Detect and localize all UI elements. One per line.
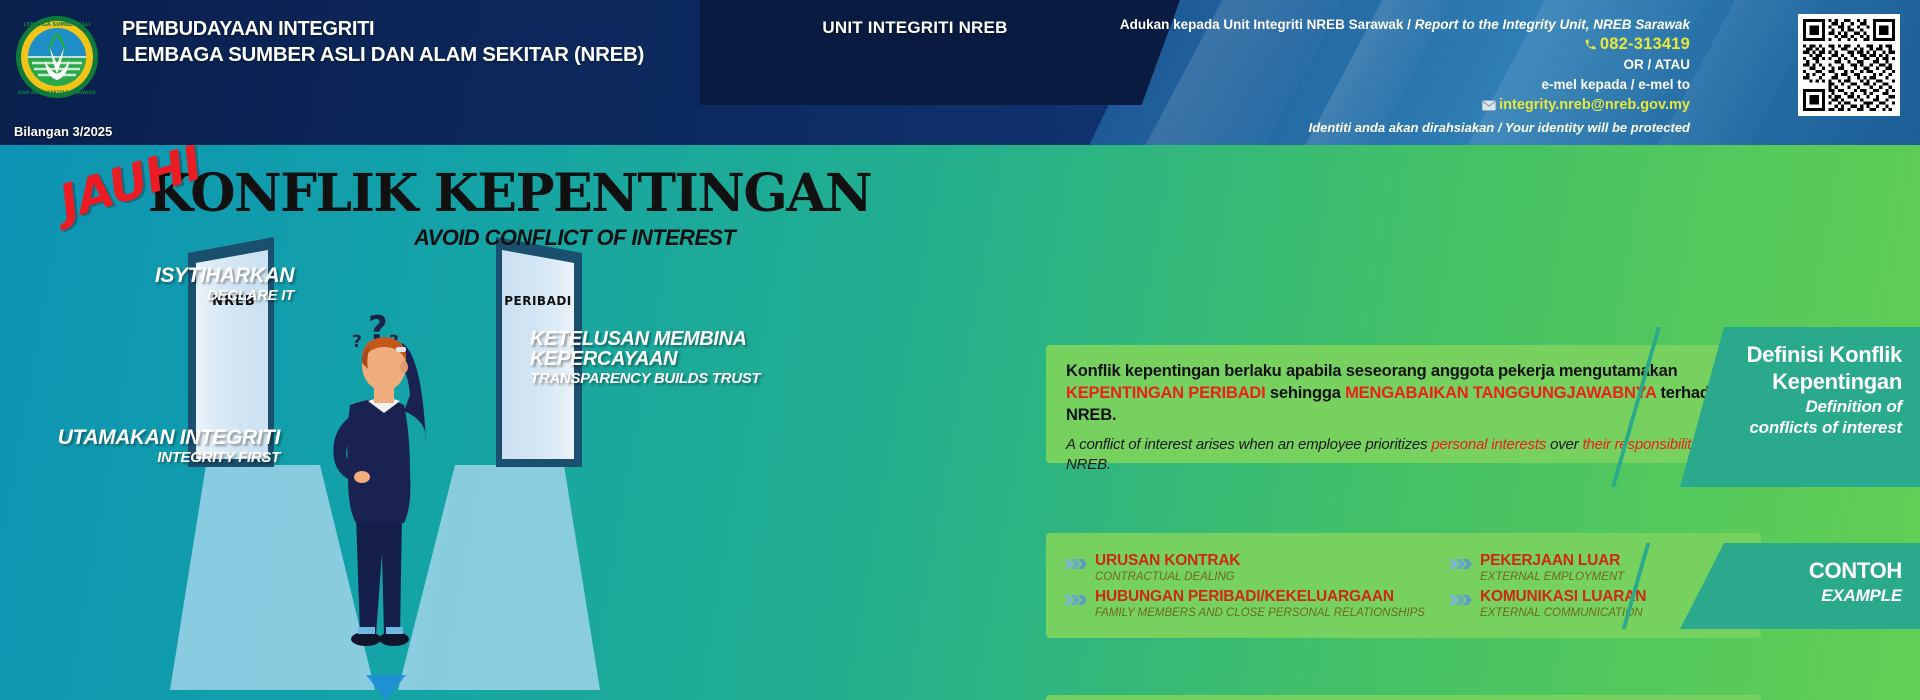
email-address: integrity.nreb@nreb.gov.my bbox=[1499, 97, 1690, 113]
example-ms: HUBUNGAN PERIBADI/KEKELUARGAAN bbox=[1095, 588, 1425, 605]
def-ms-red-2: MENGABAIKAN TANGGUNGJAWABNYA bbox=[1345, 384, 1656, 402]
example-en: FAMILY MEMBERS AND CLOSE PERSONAL RELATI… bbox=[1095, 606, 1425, 620]
tab-definition-en: Definition of conflicts of interest bbox=[1736, 396, 1902, 438]
def-ms-2: sehingga bbox=[1266, 384, 1346, 402]
label-integrity-ms: UTAMAKAN INTEGRITI bbox=[10, 427, 280, 448]
hero-title: KONFLIK KEPENTINGAN bbox=[148, 163, 871, 224]
svg-text:LEMBAGA SUMBER ASLI: LEMBAGA SUMBER ASLI bbox=[24, 22, 91, 28]
def-ms-red-1: KEPENTINGAN PERIBADI bbox=[1066, 384, 1266, 402]
label-declare-en: DECLARE IT bbox=[84, 288, 294, 303]
example-en: EXTERNAL EMPLOYMENT bbox=[1480, 570, 1624, 584]
example-ms: URUSAN KONTRAK bbox=[1095, 552, 1240, 569]
envelope-icon bbox=[1482, 98, 1496, 116]
example-ms: KOMUNIKASI LUARAN bbox=[1480, 588, 1646, 605]
header-org-line2: LEMBAGA SUMBER ASLI DAN ALAM SEKITAR (NR… bbox=[122, 42, 644, 68]
nreb-logo: LEMBAGA SUMBER ASLI DAN ALAM SEKITAR SAR… bbox=[14, 14, 100, 100]
label-transparency-en: TRANSPARENCY BUILDS TRUST bbox=[530, 371, 800, 386]
def-en-red-1: personal interests bbox=[1431, 436, 1546, 453]
infographic-poster: LEMBAGA SUMBER ASLI DAN ALAM SEKITAR SAR… bbox=[0, 0, 1920, 700]
tab-example-en: EXAMPLE bbox=[1736, 585, 1902, 606]
def-ms-1: Konflik kepentingan berlaku apabila sese… bbox=[1066, 362, 1677, 380]
label-transparency: KETELUSAN MEMBINA KEPERCAYAAN TRANSPAREN… bbox=[530, 329, 800, 386]
contact-block: Adukan kepada Unit Integriti NREB Sarawa… bbox=[1070, 16, 1690, 137]
two-doors-illustration: NREB PERIBADI bbox=[170, 235, 600, 700]
chevron-triple-icon bbox=[1064, 592, 1088, 610]
example-en: EXTERNAL COMMUNICATION bbox=[1480, 606, 1646, 620]
poster-body: JAUHI KONFLIK KEPENTINGAN AVOID CONFLICT… bbox=[0, 145, 1920, 700]
header-banner: LEMBAGA SUMBER ASLI DAN ALAM SEKITAR SAR… bbox=[0, 0, 1920, 145]
header-org-title: PEMBUDAYAAN INTEGRITI LEMBAGA SUMBER ASL… bbox=[122, 16, 644, 68]
qr-code[interactable] bbox=[1798, 14, 1900, 116]
phone-number: 082-313419 bbox=[1600, 35, 1690, 53]
report-en: Report to the Integrity Unit, NREB Saraw… bbox=[1415, 17, 1690, 32]
chevron-triple-icon bbox=[1449, 592, 1473, 610]
label-declare: ISYTIHARKAN DECLARE IT bbox=[84, 265, 294, 303]
chevron-triple-icon bbox=[1064, 556, 1088, 574]
label-transparency-ms: KETELUSAN MEMBINA KEPERCAYAAN bbox=[530, 329, 800, 369]
example-ms: PEKERJAAN LUAR bbox=[1480, 552, 1624, 569]
hero-subtitle: AVOID CONFLICT OF INTEREST bbox=[414, 225, 735, 251]
label-integrity-first: UTAMAKAN INTEGRITI INTEGRITY FIRST bbox=[10, 427, 280, 465]
svg-text:?: ? bbox=[352, 332, 362, 352]
header-org-line1: PEMBUDAYAAN INTEGRITI bbox=[122, 16, 644, 42]
chevron-triple-icon bbox=[1449, 556, 1473, 574]
report-separator: / bbox=[1407, 17, 1411, 32]
label-declare-ms: ISYTIHARKAN bbox=[84, 265, 294, 286]
example-item: URUSAN KONTRAK CONTRACTUAL DEALING bbox=[1064, 552, 1449, 584]
example-item: HUBUNGAN PERIBADI/KEKELUARGAAN FAMILY ME… bbox=[1064, 588, 1449, 620]
email-label: e-mel kepada / e-mel to bbox=[1070, 76, 1690, 94]
tab-definition-ms: Definisi Konflik Kepentingan bbox=[1736, 341, 1902, 395]
contact-phone[interactable]: 082-313419 bbox=[1070, 35, 1690, 55]
label-integrity-en: INTEGRITY FIRST bbox=[10, 450, 280, 465]
def-en-2: over bbox=[1546, 436, 1582, 453]
issue-number: Bilangan 3/2025 bbox=[14, 124, 112, 139]
example-en: CONTRACTUAL DEALING bbox=[1095, 570, 1240, 584]
report-line: Adukan kepada Unit Integriti NREB Sarawa… bbox=[1070, 16, 1690, 34]
header-unit-title: UNIT INTEGRITI NREB bbox=[700, 18, 1130, 38]
def-en-1: A conflict of interest arises when an em… bbox=[1066, 436, 1431, 453]
contact-or: OR / ATAU bbox=[1070, 56, 1690, 74]
report-ms: Adukan kepada Unit Integriti NREB Sarawa… bbox=[1120, 17, 1404, 32]
panel-action: Laporkan sebarang kemungkinan konflik ke… bbox=[1046, 695, 1761, 700]
svg-text:PERIBADI: PERIBADI bbox=[504, 294, 572, 308]
svg-text:DAN ALAM SEKITAR SARAWAK: DAN ALAM SEKITAR SARAWAK bbox=[18, 90, 96, 96]
contact-email[interactable]: integrity.nreb@nreb.gov.my bbox=[1070, 96, 1690, 116]
privacy-note: Identiti anda akan dirahsiakan / Your id… bbox=[1070, 119, 1690, 137]
phone-icon bbox=[1584, 37, 1597, 55]
tab-example-ms: CONTOH bbox=[1736, 557, 1902, 584]
